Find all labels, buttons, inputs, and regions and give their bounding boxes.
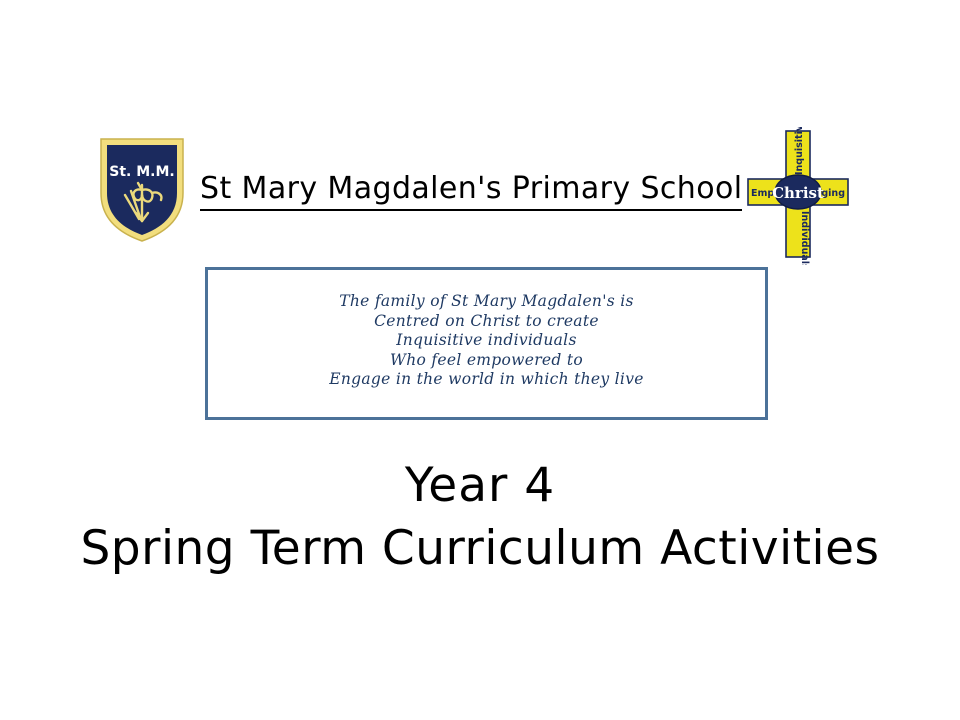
document-page: St. M.M. Inquisitive Individuals [0, 0, 960, 720]
mission-statement-text: The family of St Mary Magdalen's is Cent… [208, 292, 765, 390]
mission-statement-box: The family of St Mary Magdalen's is Cent… [205, 267, 768, 420]
term-curriculum-label: Spring Term Curriculum Activities [0, 517, 960, 581]
school-name-heading: St Mary Magdalen's Primary School [200, 172, 730, 211]
cross-top-label: Inquisitive [794, 127, 805, 175]
christ-cross-logo: Inquisitive Individuals Empowering Engag… [742, 127, 854, 265]
year-group-label: Year 4 [0, 455, 960, 517]
cross-bottom-label: Individuals [799, 211, 810, 265]
crest-initials-text: St. M.M. [109, 164, 174, 180]
mission-line-4: Who feel empowered to [208, 351, 765, 371]
mission-line-2: Centred on Christ to create [208, 312, 765, 332]
mission-line-5: Engage in the world in which they live [208, 370, 765, 390]
school-name-text: St Mary Magdalen's Primary School [200, 172, 742, 211]
mission-line-1: The family of St Mary Magdalen's is [208, 292, 765, 312]
school-crest: St. M.M. [95, 133, 189, 245]
cross-center-label: Christ [772, 184, 824, 202]
mission-line-3: Inquisitive individuals [208, 331, 765, 351]
page-title: Year 4 Spring Term Curriculum Activities [0, 455, 960, 581]
